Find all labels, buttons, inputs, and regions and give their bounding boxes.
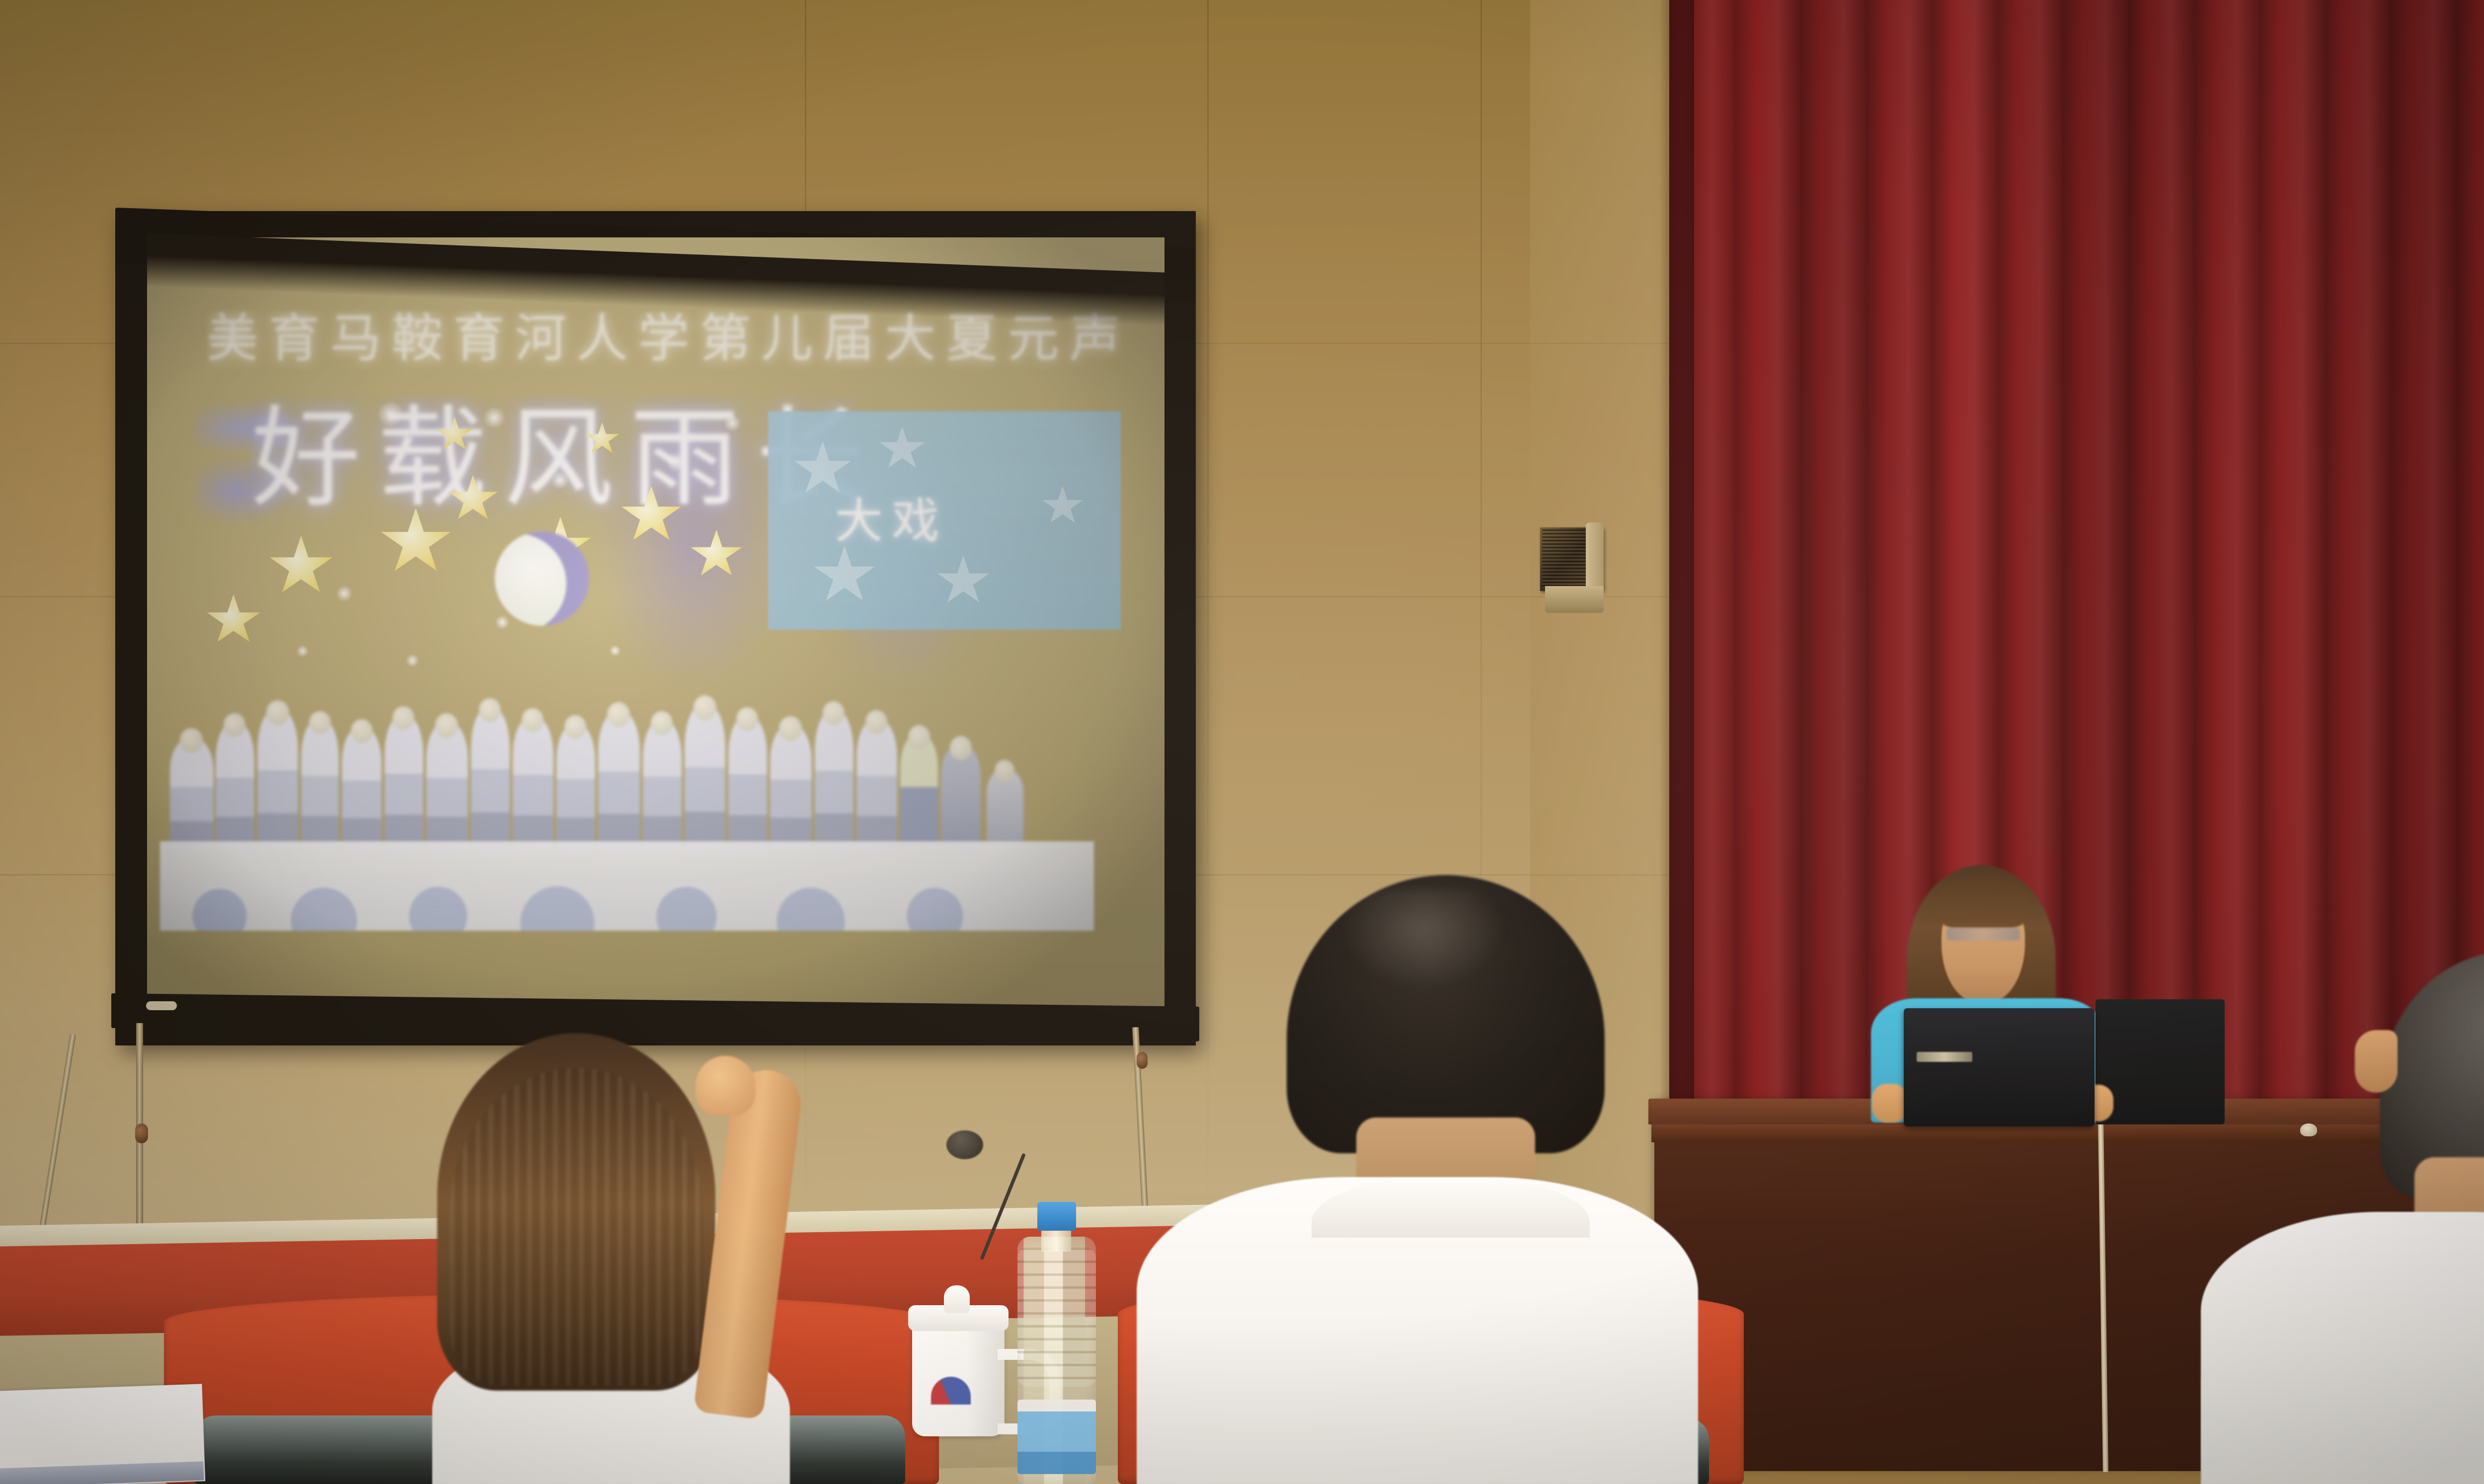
sparkle-icon <box>405 654 419 668</box>
eyeglasses-icon <box>1946 928 2020 941</box>
projected-slide: 美育马鞍育河人学第儿届大夏元声公演 好载风雨长 <box>147 237 1164 1016</box>
curtain-left-edge-shadow <box>1659 0 1694 1271</box>
audience-left-hand <box>696 1056 755 1115</box>
podium-front-lip <box>1651 1124 2452 1142</box>
tripod-adjust-knob <box>135 1123 148 1143</box>
audience-left-hair-strands <box>450 1068 703 1386</box>
audience-right-ear <box>2355 1030 2398 1093</box>
wall-panel-seam <box>1207 0 1209 1261</box>
sparkle-icon <box>609 645 621 657</box>
bottle-label <box>1017 1400 1096 1474</box>
sparkle-icon <box>296 645 309 658</box>
laptop-brand-badge <box>1917 1052 1972 1062</box>
sparkle-icon <box>666 451 688 473</box>
crescent-moon-icon <box>495 531 589 626</box>
slide-blue-panel-text: 大戏 <box>835 496 1059 550</box>
star-icon <box>206 594 261 647</box>
slide-wave-border <box>160 841 1094 931</box>
sparkle-icon <box>723 414 741 432</box>
tripod-adjust-knob <box>1137 1052 1148 1069</box>
audience-right-shirt <box>2201 1212 2484 1484</box>
projection-screen-surface: 美育马鞍育河人学第儿届大夏元声公演 好载风雨长 <box>147 237 1164 1016</box>
laptop-icon[interactable] <box>1904 1008 2095 1126</box>
podium-small-object <box>2300 1123 2317 1136</box>
sparkle-icon <box>495 615 510 630</box>
mug-lid-knob[interactable] <box>944 1285 970 1313</box>
sparkle-icon <box>336 585 353 602</box>
laptop-secondary <box>2096 999 2225 1124</box>
speaker-grill <box>1542 529 1587 589</box>
bottle-cap-icon <box>1037 1202 1076 1231</box>
slide-group-photo <box>160 669 1068 853</box>
speaker-base <box>1545 586 1604 613</box>
sparkle-icon <box>377 400 404 428</box>
sparkle-icon <box>550 471 569 490</box>
projection-screen-latch <box>146 1001 177 1010</box>
speaker-bracket <box>1586 522 1604 596</box>
water-bottle-near[interactable] <box>1017 1202 1096 1484</box>
presenter-left-hand <box>1872 1084 1908 1122</box>
sparkle-icon <box>483 406 506 429</box>
photograph-scene: 美育马鞍育河人学第儿届大夏元声公演 好载风雨长 <box>0 0 2484 1484</box>
microphone-icon[interactable] <box>946 1130 983 1159</box>
audience-center-hair-sheen <box>1341 889 1505 988</box>
